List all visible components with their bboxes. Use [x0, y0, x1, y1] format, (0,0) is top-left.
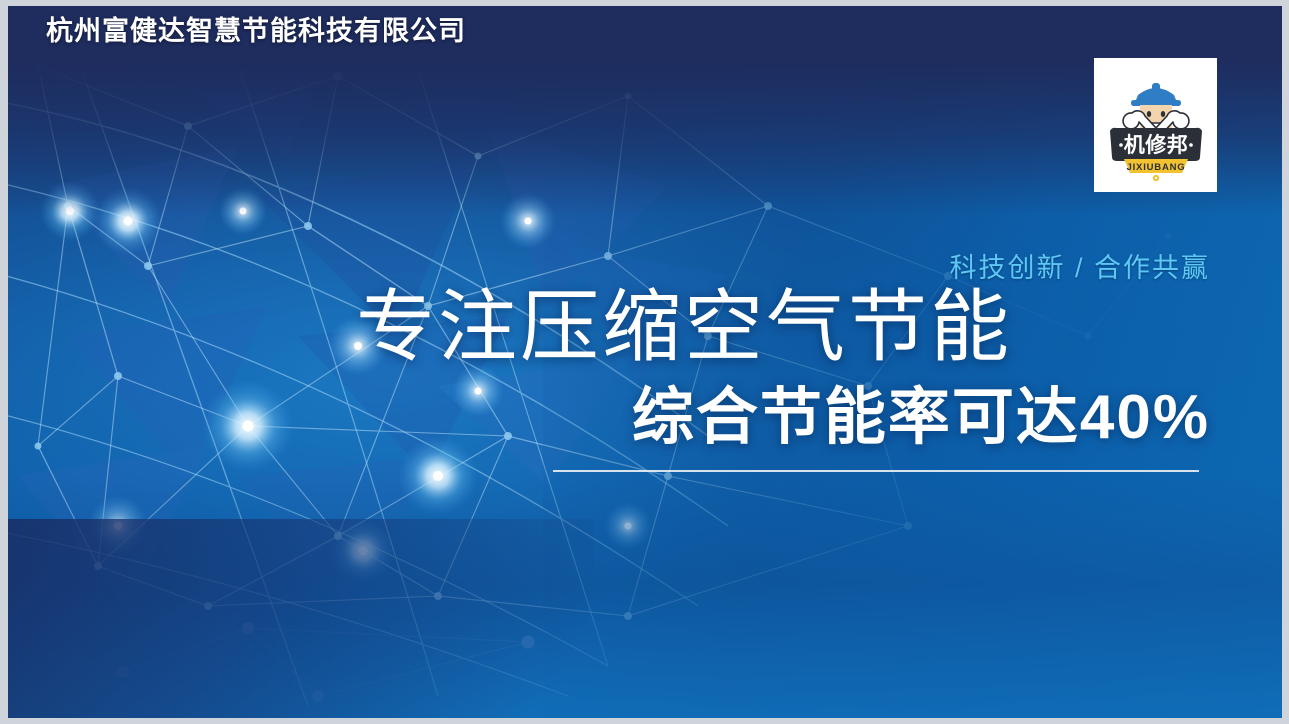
headline-secondary: 综合节能率可达40%	[632, 387, 1210, 449]
glowing-nodes	[40, 181, 652, 583]
tagline: 科技创新 / 合作共赢	[949, 246, 1210, 285]
lower-mesh-lines	[28, 628, 528, 696]
banner-artwork: 杭州富健达智慧节能科技有限公司	[8, 6, 1282, 718]
headline-primary: 专注压缩空气节能	[356, 289, 1012, 368]
company-logo-card: 机修邦 JIXIUBANG	[1094, 58, 1217, 192]
svg-text:机修邦: 机修邦	[1123, 133, 1188, 157]
promo-banner: 杭州富健达智慧节能科技有限公司	[0, 0, 1289, 724]
svg-text:JIXIUBANG: JIXIUBANG	[1126, 162, 1185, 173]
lower-left-shadow	[8, 519, 594, 718]
company-name: 杭州富健达智慧节能科技有限公司	[46, 15, 466, 49]
divider-rule	[553, 470, 1199, 472]
bottom-gradient-overlay	[8, 476, 1282, 718]
lower-mesh-nodes	[117, 622, 535, 702]
jixiubang-logo-icon: 机修邦 JIXIUBANG	[1102, 65, 1210, 185]
